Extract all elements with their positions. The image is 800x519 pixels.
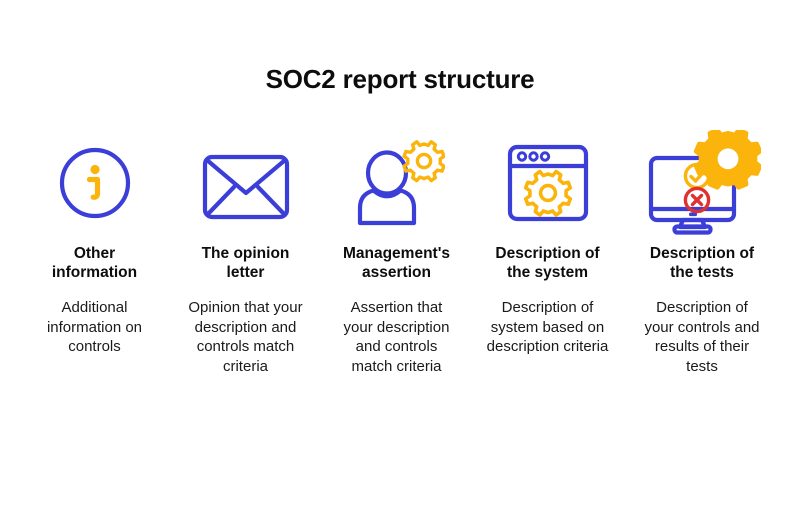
column-body: Additional information on controls	[37, 298, 153, 357]
columns-container: Other information Additional information…	[0, 130, 800, 376]
monitor-test-results-icon	[627, 130, 778, 235]
envelope-icon	[170, 130, 321, 235]
person-gear-icon	[321, 130, 472, 235]
column-body: Opinion that your description and contro…	[188, 298, 304, 376]
browser-window-gear-icon	[472, 130, 623, 235]
column-management-assertion: Management's assertion Assertion that yo…	[321, 130, 472, 376]
column-opinion-letter: The opinion letter Opinion that your des…	[170, 130, 321, 376]
column-heading: Other information	[36, 244, 154, 282]
column-system-description: Description of the system Description of…	[472, 130, 623, 357]
column-heading: Description of the system	[489, 244, 607, 282]
column-other-information: Other information Additional information…	[19, 130, 170, 357]
column-body: Description of your controls and results…	[640, 298, 764, 376]
column-heading: The opinion letter	[187, 244, 305, 282]
column-heading: Management's assertion	[338, 244, 456, 282]
page-title: SOC2 report structure	[0, 64, 800, 95]
column-heading: Description of the tests	[643, 244, 761, 282]
column-tests-description: Description of the tests Description of …	[623, 130, 781, 376]
column-body: Description of system based on descripti…	[486, 298, 610, 357]
gear-icon	[525, 171, 570, 215]
infographic-root: SOC2 report structure Other information …	[0, 0, 800, 519]
gear-icon	[404, 141, 444, 180]
info-circle-icon	[19, 130, 170, 235]
column-body: Assertion that your description and cont…	[339, 298, 455, 376]
